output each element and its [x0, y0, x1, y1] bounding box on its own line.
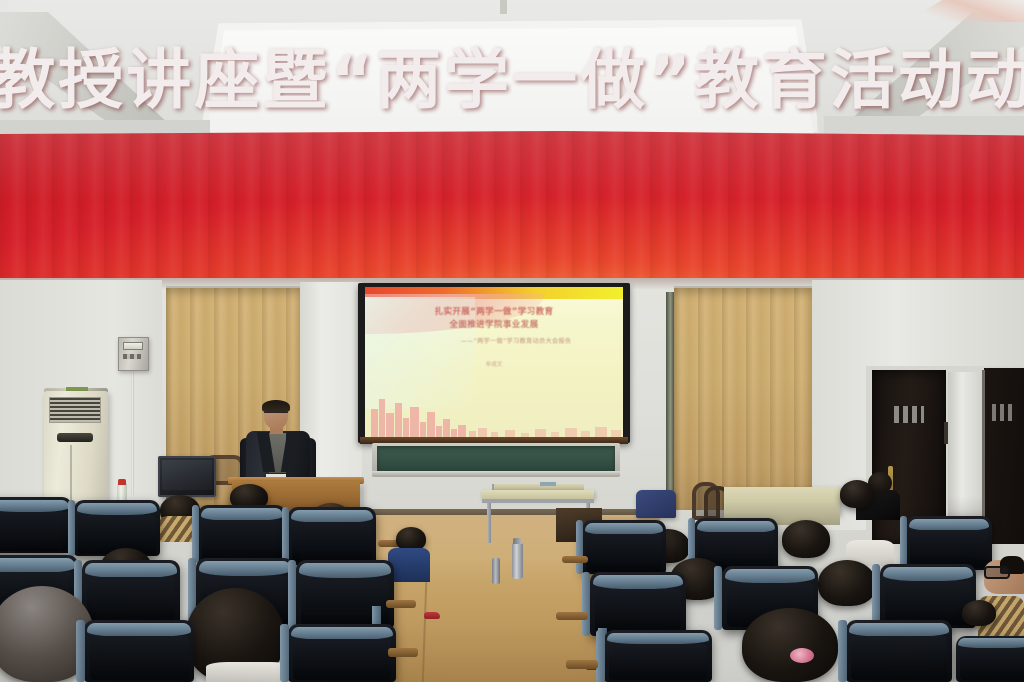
podium-monitor-screen	[162, 460, 212, 490]
seat-side-panel	[68, 500, 75, 556]
attendee-head	[962, 600, 996, 626]
seat-side-panel	[582, 572, 590, 636]
air-conditioner-display-panel	[57, 433, 93, 442]
control-box-display	[123, 342, 143, 350]
seat[interactable]	[590, 572, 686, 636]
seat-armrest	[562, 556, 588, 563]
folding-table-leg-left	[487, 503, 491, 543]
chalk-tray	[372, 471, 620, 476]
slide-skyline-graphic	[365, 393, 623, 439]
banner-text: 牟成文教授讲座暨“两学一做”教育活动动员大会	[0, 14, 1024, 134]
slide-subtitle: ——“两学一做”学习教育动员大会报告	[387, 336, 623, 345]
thermos-flask	[512, 543, 523, 579]
door-vent-left	[894, 406, 924, 423]
seat[interactable]	[846, 620, 952, 682]
folding-table-rail	[482, 499, 594, 503]
ceiling-hanger-stub	[500, 0, 507, 14]
air-conditioner-grille	[49, 397, 101, 423]
chalkboard	[377, 446, 615, 471]
seat-side-panel	[872, 564, 880, 628]
lecture-hall-photo: 牟成文教授讲座暨“两学一做”教育活动动员大会 扎实开展“两学一做”学习教育 全面…	[0, 0, 1024, 682]
speaker-glasses	[264, 412, 288, 417]
attendee-head	[840, 480, 874, 508]
seat-side-panel	[280, 624, 289, 682]
attendee-with-glasses	[984, 556, 1024, 596]
seat[interactable]	[82, 560, 180, 626]
seat[interactable]	[198, 505, 286, 563]
seat-armrest	[566, 660, 598, 669]
door-hinge	[944, 422, 948, 444]
seat[interactable]	[288, 624, 396, 682]
folding-table	[482, 490, 594, 499]
seat[interactable]	[956, 636, 1024, 682]
seat-side-panel	[900, 516, 907, 570]
water-bottle-cap	[118, 479, 126, 485]
door-vent-right	[992, 404, 1016, 421]
attendee-clothing	[388, 548, 430, 582]
seat[interactable]	[84, 620, 194, 682]
attendee-head	[818, 560, 876, 606]
door-leaf-right[interactable]	[984, 368, 1024, 544]
seat[interactable]	[880, 564, 976, 628]
seat-armrest	[388, 648, 418, 657]
seat-side-panel	[838, 620, 847, 682]
thermos-flask-cap	[513, 538, 522, 544]
seat[interactable]	[74, 500, 160, 556]
control-box-buttons[interactable]	[123, 354, 143, 359]
seat[interactable]	[906, 516, 992, 570]
seat[interactable]	[0, 497, 72, 553]
seat-armrest	[386, 600, 416, 608]
attendee-head	[782, 520, 830, 558]
attendee-head	[742, 608, 838, 682]
banner-gloss	[0, 131, 1024, 200]
slide-title-line-1: 扎实开展“两学一做”学习教育	[365, 305, 623, 317]
hair-flower	[790, 648, 814, 663]
seat[interactable]	[582, 520, 666, 574]
seat[interactable]	[288, 507, 376, 565]
air-conditioner-seam	[70, 445, 72, 503]
seat-side-panel	[596, 630, 605, 682]
seat-side-panel	[288, 560, 296, 628]
eyeglasses	[984, 566, 1010, 579]
seat-side-panel	[714, 566, 722, 630]
thermos-flask-secondary	[492, 558, 500, 584]
seat-side-panel	[76, 620, 85, 682]
seat[interactable]	[604, 630, 712, 682]
seat-side-panel	[282, 507, 289, 565]
control-box-cable	[131, 370, 134, 495]
event-banner	[0, 131, 1024, 281]
seat-side-panel	[576, 520, 583, 574]
shoe	[424, 612, 440, 619]
seat-side-panel	[192, 505, 199, 563]
slide-presenter-name: 牟成文	[365, 360, 623, 368]
table-item	[540, 482, 556, 486]
projection-screen: 扎实开展“两学一做”学习教育 全面推进学院事业发展 ——“两学一做”学习教育动员…	[365, 287, 623, 439]
right-window-curtain	[674, 288, 812, 510]
seat-armrest	[556, 612, 588, 620]
slide-title-line-2: 全面推进学院事业发展	[365, 318, 623, 330]
blue-office-chair	[636, 490, 676, 518]
